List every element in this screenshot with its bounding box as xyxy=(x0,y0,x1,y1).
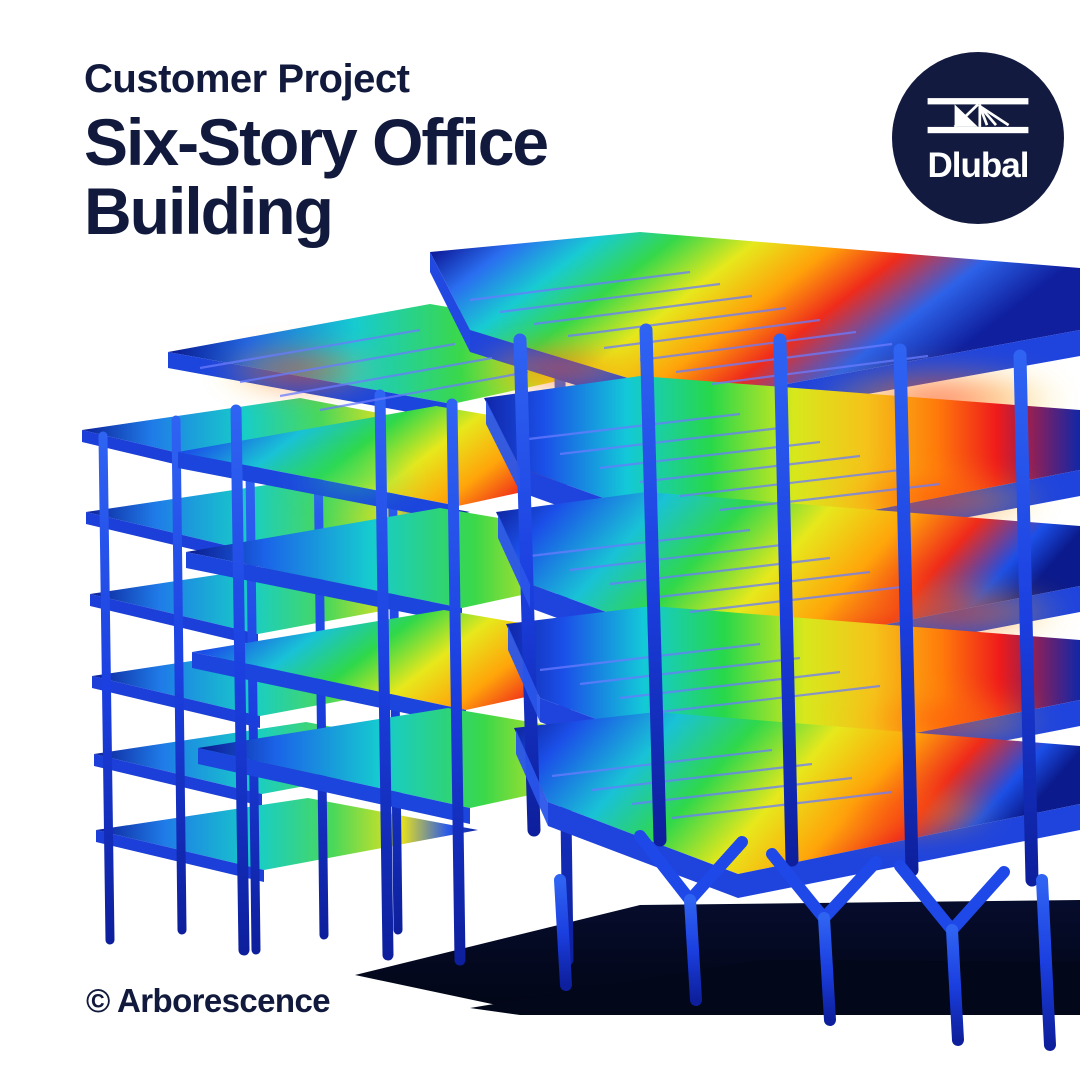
eyebrow-text: Customer Project xyxy=(84,56,704,102)
page-title: Six-Story Office Building xyxy=(84,108,704,245)
headline-block: Customer Project Six-Story Office Buildi… xyxy=(84,56,704,245)
bridge-truss-icon xyxy=(924,90,1032,144)
dlubal-logo-badge[interactable]: Dlubal xyxy=(892,52,1064,224)
logo-wordmark: Dlubal xyxy=(928,146,1029,186)
copyright-credit: © Arborescence xyxy=(86,982,330,1020)
image-canvas: Customer Project Six-Story Office Buildi… xyxy=(0,0,1080,1080)
